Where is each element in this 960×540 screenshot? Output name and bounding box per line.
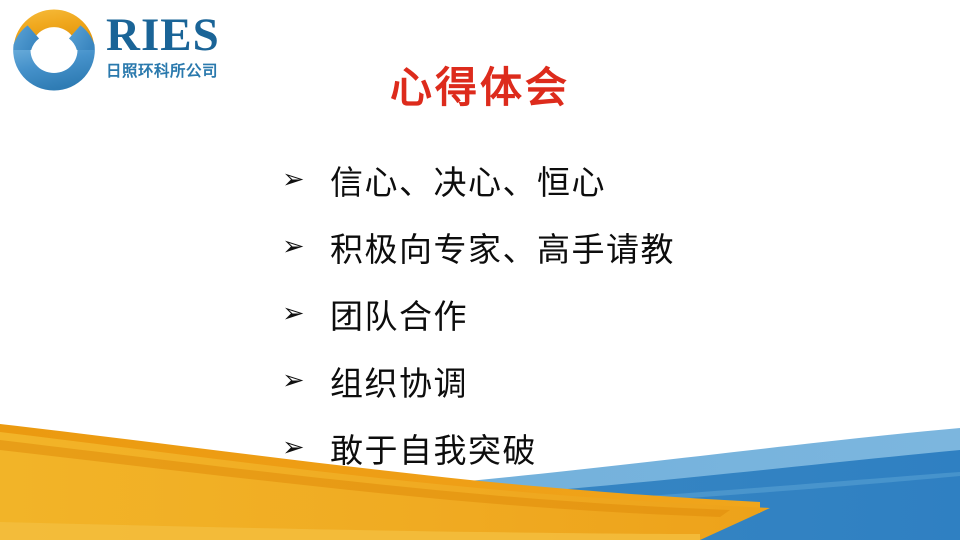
- arrow-bullet-icon: ➢: [282, 367, 330, 394]
- logo-wordmark-text: RIES: [106, 10, 261, 60]
- list-item: ➢ 团队合作: [282, 280, 882, 347]
- arrow-bullet-icon: ➢: [282, 166, 330, 193]
- list-item-label: 信心、决心、恒心: [330, 156, 606, 204]
- list-item-label: 组织协调: [330, 357, 468, 405]
- presentation-slide: RIES 日照环科所公司 心得体会 ➢ 信心、决心、恒心 ➢ 积极向专家、高手请…: [0, 0, 960, 540]
- list-item-label: 积极向专家、高手请教: [330, 223, 675, 271]
- decorative-wave-graphic: [0, 410, 960, 540]
- arrow-bullet-icon: ➢: [282, 300, 330, 327]
- arrow-bullet-icon: ➢: [282, 233, 330, 260]
- slide-title: 心得体会: [0, 54, 960, 115]
- list-item: ➢ 信心、决心、恒心: [282, 146, 882, 213]
- list-item: ➢ 积极向专家、高手请教: [282, 213, 882, 280]
- list-item: ➢ 组织协调: [282, 347, 882, 414]
- list-item-label: 团队合作: [330, 290, 468, 338]
